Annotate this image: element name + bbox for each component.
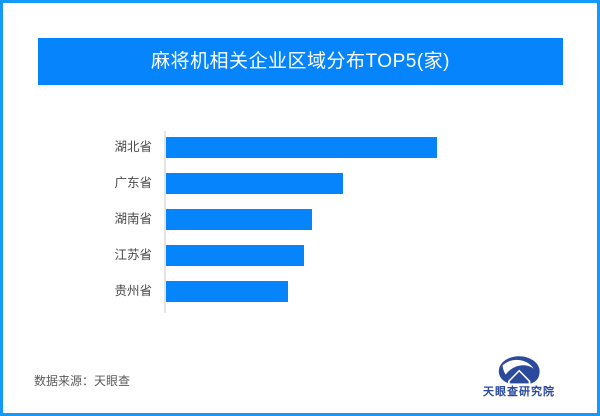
- infographic-canvas: 麻将机相关企业区域分布TOP5(家) 湖北省 广东省 湖南省 江苏省 贵州省 数…: [0, 0, 600, 416]
- bar-value: [166, 173, 343, 194]
- bar-category-label: 湖南省: [3, 209, 152, 230]
- bar-row: 湖南省: [3, 203, 600, 239]
- bar-row: 湖北省: [3, 131, 600, 167]
- bar-value: [166, 281, 288, 302]
- chart-title-banner: 麻将机相关企业区域分布TOP5(家): [38, 38, 563, 85]
- tianyancha-eye-logo-icon: [497, 355, 541, 385]
- bar-category-label: 江苏省: [3, 245, 152, 266]
- bar-category-label: 贵州省: [3, 281, 152, 302]
- brand-wordmark: 天眼查研究院: [483, 386, 555, 399]
- page-title: 麻将机相关企业区域分布TOP5(家): [151, 52, 450, 71]
- bar-value: [166, 137, 437, 158]
- data-source-note: 数据来源：天眼查: [34, 373, 130, 389]
- bar-row: 贵州省: [3, 275, 600, 311]
- bar-value: [166, 245, 304, 266]
- bar-row: 江苏省: [3, 239, 600, 275]
- bar-value: [166, 209, 312, 230]
- bar-category-label: 广东省: [3, 173, 152, 194]
- brand-logo: 天眼查研究院: [471, 355, 567, 405]
- bar-category-label: 湖北省: [3, 137, 152, 158]
- bar-chart: 湖北省 广东省 湖南省 江苏省 贵州省: [3, 121, 600, 321]
- bar-row: 广东省: [3, 167, 600, 203]
